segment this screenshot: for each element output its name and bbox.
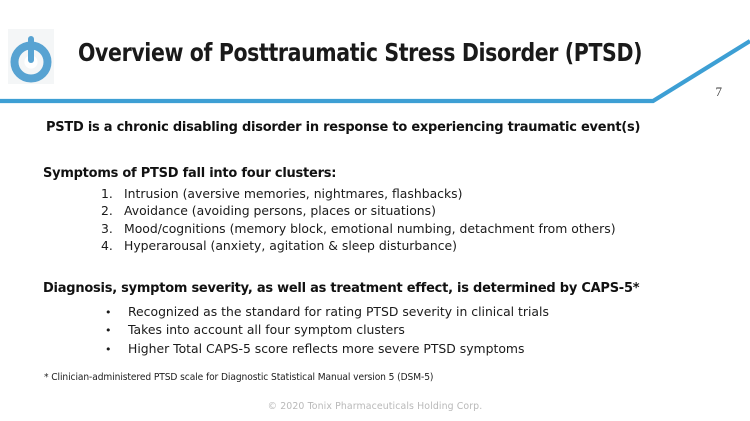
lead-statement: PSTD is a chronic disabling disorder in … <box>46 119 640 135</box>
list-item: • Higher Total CAPS-5 score reflects mor… <box>101 340 549 358</box>
list-item-label: Recognized as the standard for rating PT… <box>128 303 549 320</box>
page-title: Overview of Posttraumatic Stress Disorde… <box>78 38 655 67</box>
list-item: 3. Mood/cognitions (memory block, emotio… <box>101 220 616 237</box>
list-marker: 1. <box>101 185 124 202</box>
list-item-label: Takes into account all four symptom clus… <box>128 321 405 338</box>
clusters-heading: Symptoms of PTSD fall into four clusters… <box>43 165 336 181</box>
page-number: 7 <box>716 84 723 100</box>
bullet-marker: • <box>101 322 128 339</box>
list-item: • Takes into account all four symptom cl… <box>101 321 549 339</box>
list-marker: 2. <box>101 202 124 219</box>
power-button-icon <box>8 29 54 84</box>
symptom-cluster-list: 1. Intrusion (aversive memories, nightma… <box>101 185 616 254</box>
copyright-notice: © 2020 Tonix Pharmaceuticals Holding Cor… <box>0 401 750 412</box>
list-item: 4. Hyperarousal (anxiety, agitation & sl… <box>101 237 616 254</box>
slide-canvas: Overview of Posttraumatic Stress Disorde… <box>0 0 750 421</box>
list-marker: 4. <box>101 237 124 254</box>
bullet-marker: • <box>101 341 128 358</box>
diagnosis-heading: Diagnosis, symptom severity, as well as … <box>43 280 639 296</box>
list-item: 2. Avoidance (avoiding persons, places o… <box>101 202 616 219</box>
footnote: * Clinician-administered PTSD scale for … <box>44 372 433 383</box>
list-item-label: Mood/cognitions (memory block, emotional… <box>124 220 616 237</box>
list-item: 1. Intrusion (aversive memories, nightma… <box>101 185 616 202</box>
diagnosis-point-list: • Recognized as the standard for rating … <box>101 303 549 358</box>
list-item-label: Hyperarousal (anxiety, agitation & sleep… <box>124 237 457 254</box>
list-item: • Recognized as the standard for rating … <box>101 303 549 321</box>
list-item-label: Avoidance (avoiding persons, places or s… <box>124 202 436 219</box>
bullet-marker: • <box>101 304 128 321</box>
tonix-power-logo-icon <box>8 29 54 84</box>
list-item-label: Higher Total CAPS-5 score reflects more … <box>128 340 524 357</box>
list-marker: 3. <box>101 220 124 237</box>
list-item-label: Intrusion (aversive memories, nightmares… <box>124 185 462 202</box>
